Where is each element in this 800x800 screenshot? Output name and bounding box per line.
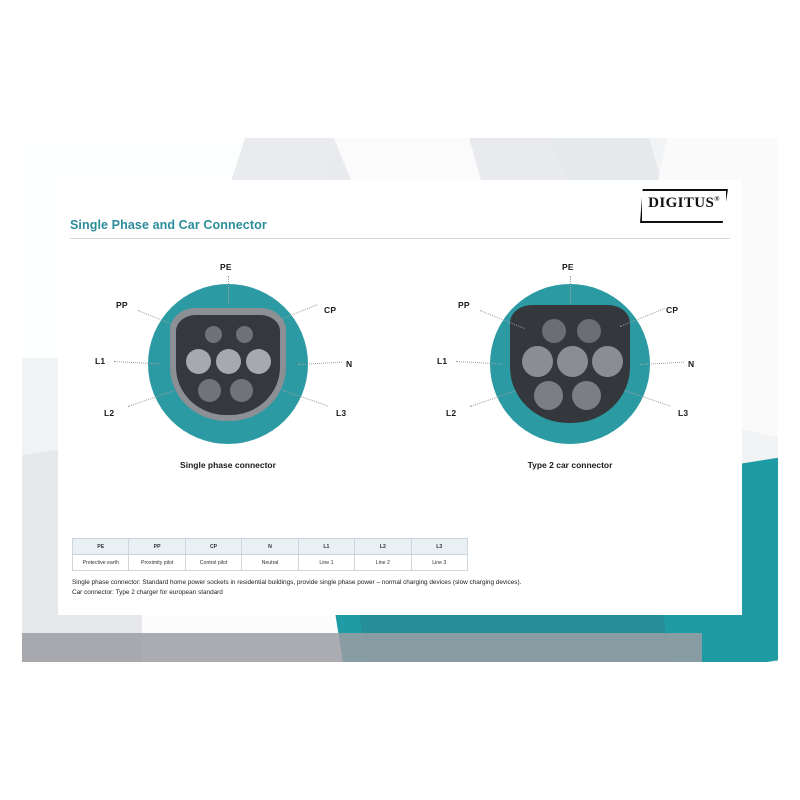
- label-pp: PP: [458, 300, 470, 310]
- pin-l2: [534, 381, 563, 410]
- table-header-n: N: [242, 539, 298, 555]
- diagram-single-phase-connector: PE PP CP L1 N L2 L3 Single phase connect…: [78, 260, 378, 490]
- pin-cp: [542, 319, 566, 343]
- logo-text: DIGITUS: [648, 195, 714, 211]
- diagram-caption: Single phase connector: [78, 460, 378, 470]
- label-cp: CP: [324, 305, 336, 315]
- table-header-row: PEPPCPNL1L2L3: [73, 539, 468, 555]
- table-cell: Control pilot: [185, 555, 241, 571]
- table-cell: Neutral: [242, 555, 298, 571]
- label-l3: L3: [336, 408, 346, 418]
- label-l1: L1: [95, 356, 105, 366]
- table-cell: Proximity pilot: [129, 555, 185, 571]
- table-cell: Line 2: [355, 555, 411, 571]
- label-l1: L1: [437, 356, 447, 366]
- table-row: Protective earthProximity pilotControl p…: [73, 555, 468, 571]
- pin-pp: [577, 319, 601, 343]
- registered-trademark-icon: ®: [714, 195, 720, 203]
- pin-cp: [205, 326, 222, 343]
- label-n: N: [688, 359, 694, 369]
- leader-line-pe: [228, 276, 229, 304]
- label-n: N: [346, 359, 352, 369]
- table-header-l1: L1: [298, 539, 354, 555]
- table-header-l2: L2: [355, 539, 411, 555]
- label-l3: L3: [678, 408, 688, 418]
- pin-legend-table: PEPPCPNL1L2L3 Protective earthProximity …: [72, 538, 468, 571]
- pin-l1: [186, 349, 211, 374]
- pin-n: [246, 349, 271, 374]
- diagram-caption: Type 2 car connector: [420, 460, 720, 470]
- pin-pp: [236, 326, 253, 343]
- footer-notes: Single phase connector: Standard home po…: [72, 578, 732, 598]
- pin-pe: [216, 349, 241, 374]
- pin-l1: [522, 346, 553, 377]
- pin-l3: [230, 379, 253, 402]
- table-header-pe: PE: [73, 539, 129, 555]
- pin-l2: [198, 379, 221, 402]
- note-car-connector: Car connector: Type 2 charger for europe…: [72, 588, 732, 598]
- logo-wordmark: DIGITUS®: [642, 195, 726, 212]
- backdrop-gray-strip: [22, 633, 702, 662]
- pin-n: [592, 346, 623, 377]
- diagram-type-2-car-connector: PE PP CP L1 N L2 L3 Type 2 car connector: [420, 260, 720, 490]
- label-l2: L2: [104, 408, 114, 418]
- table-header-pp: PP: [129, 539, 185, 555]
- label-cp: CP: [666, 305, 678, 315]
- brand-logo: DIGITUS®: [640, 189, 728, 223]
- table-cell: Line 1: [298, 555, 354, 571]
- label-pe: PE: [562, 262, 574, 272]
- table-cell: Line 3: [411, 555, 467, 571]
- table-body: Protective earthProximity pilotControl p…: [73, 555, 468, 571]
- table-cell: Protective earth: [73, 555, 129, 571]
- label-l2: L2: [446, 408, 456, 418]
- leader-line-pe: [570, 276, 571, 304]
- logo-badge-outline: DIGITUS®: [640, 189, 728, 223]
- label-pp: PP: [116, 300, 128, 310]
- document-card: DIGITUS® Single Phase and Car Connector …: [58, 180, 742, 615]
- pin-pe: [557, 346, 588, 377]
- table-header-l3: L3: [411, 539, 467, 555]
- title-divider: [70, 238, 730, 239]
- table-header-cp: CP: [185, 539, 241, 555]
- page-title: Single Phase and Car Connector: [70, 218, 267, 232]
- label-pe: PE: [220, 262, 232, 272]
- note-single-phase: Single phase connector: Standard home po…: [72, 578, 732, 588]
- pin-l3: [572, 381, 601, 410]
